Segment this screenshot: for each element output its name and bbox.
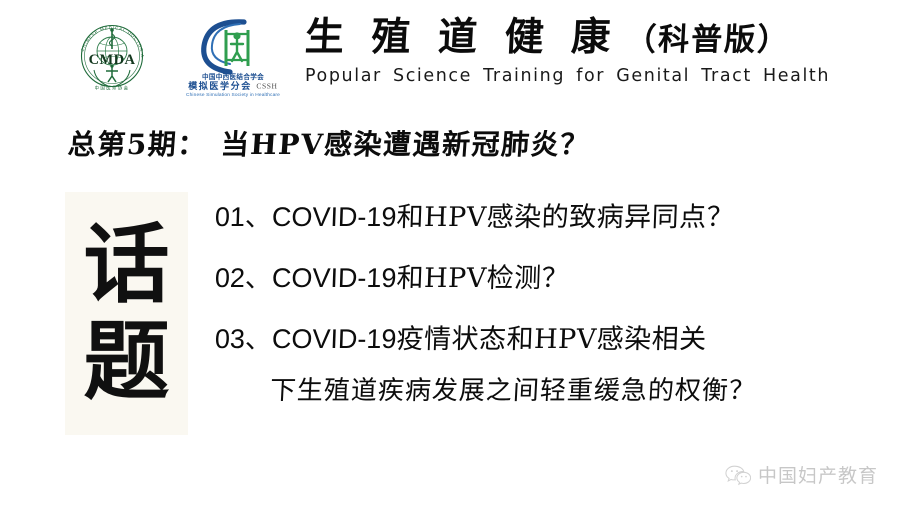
svg-text:CSSH: CSSH (256, 82, 277, 91)
episode-line: 总第5期：当HPV感染遭遇新冠肺炎？ (67, 123, 870, 163)
question-latin: COVID-19 (271, 202, 397, 232)
svg-text:模拟医学分会: 模拟医学分会 (188, 80, 252, 92)
watermark: 中国妇产教育 (725, 461, 878, 488)
episode-question: 当HPV感染遭遇新冠肺炎？ (220, 128, 591, 161)
question-tail: 疫情状态和HPV感染相关 (396, 324, 707, 355)
list-item: 01、COVID-19和HPV感染的致病异同点？ (214, 195, 885, 234)
page-subtitle: Popular Science Training for Genital Tra… (305, 66, 865, 86)
question-latin: COVID-19 (271, 263, 397, 293)
question-continuation: 下生殖道疾病发展之间轻重缓急的权衡？ (269, 370, 886, 407)
question-number: 01、 (214, 202, 272, 232)
episode-prefix: 总第5期： (67, 128, 208, 161)
question-list: 01、COVID-19和HPV感染的致病异同点？ 02、COVID-19和HPV… (215, 195, 885, 407)
question-number: 03、 (214, 324, 272, 354)
question-number: 02、 (214, 263, 272, 293)
cssh-logo: 中国中西医结合学会 模拟医学分会 CSSH Chinese Simulation… (174, 14, 292, 98)
list-item: 03、COVID-19疫情状态和HPV感染相关 (214, 317, 885, 356)
topic-char-first: 话 (84, 217, 170, 313)
svg-text:中国中西医结合学会: 中国中西医结合学会 (202, 72, 264, 81)
topic-panel: 话 题 (65, 192, 188, 435)
slide-canvas: CHINESE MEDICAL DOCTOR ASSOCIATION CMDA … (0, 0, 900, 506)
page-title-main: 生 殖 道 健 康 (304, 14, 619, 60)
svg-text:Chinese Simulation Society in: Chinese Simulation Society in Healthcare (186, 92, 280, 98)
page-title: 生 殖 道 健 康（科普版） (304, 14, 866, 60)
page-title-suffix: （科普版） (624, 22, 791, 58)
question-tail: 和HPV检测？ (396, 263, 570, 294)
topic-char-second: 题 (84, 314, 170, 410)
title-block: 生 殖 道 健 康（科普版） Popular Science Training … (305, 14, 865, 86)
question-tail: 和HPV感染的致病异同点？ (396, 202, 735, 233)
watermark-label: 中国妇产教育 (758, 461, 878, 488)
list-item: 02、COVID-19和HPV检测？ (214, 256, 885, 295)
logo-strip: CHINESE MEDICAL DOCTOR ASSOCIATION CMDA … (70, 12, 300, 98)
svg-text:中国医师协会: 中国医师协会 (95, 85, 130, 92)
wechat-icon (725, 464, 751, 486)
cmda-logo: CHINESE MEDICAL DOCTOR ASSOCIATION CMDA … (74, 18, 150, 94)
question-latin: COVID-19 (271, 324, 397, 354)
